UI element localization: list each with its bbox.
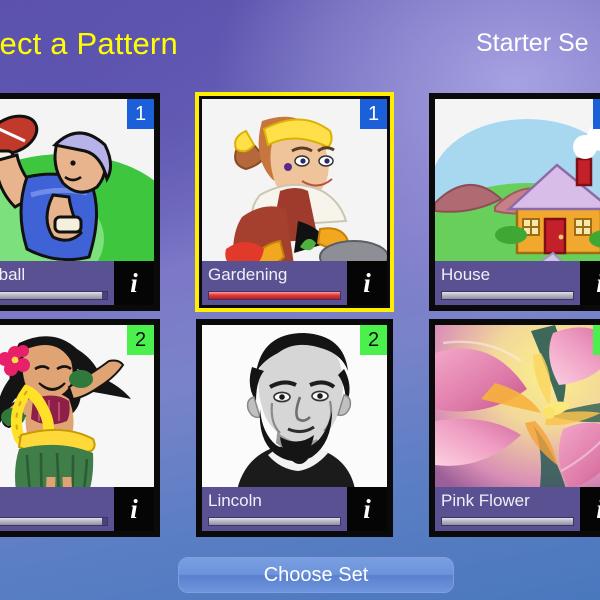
pattern-grid: 1 ootball i: [0, 93, 600, 545]
set-name-label: Starter Se: [476, 29, 589, 58]
card-namebar: Lincoln i: [202, 487, 387, 531]
difficulty-badge: 2: [360, 325, 387, 355]
card-namebar: Gardening i: [202, 261, 387, 305]
pattern-thumbnail-pink-flower[interactable]: [435, 325, 600, 495]
card-namebar: House i: [435, 261, 600, 305]
info-button[interactable]: i: [347, 487, 387, 531]
difficulty-badge: 2: [127, 325, 154, 355]
progress-fill: [0, 292, 102, 299]
pattern-card-pink-flower[interactable]: Pink Flower i: [429, 319, 600, 537]
progress-fill: [209, 292, 340, 299]
header: elect a Pattern Starter Se: [0, 0, 600, 88]
info-button[interactable]: i: [114, 261, 154, 305]
difficulty-badge: [593, 325, 600, 355]
progress-bar: [441, 517, 574, 526]
progress-fill: [442, 518, 573, 525]
progress-fill: [442, 292, 573, 299]
pattern-name: Gardening: [208, 264, 347, 286]
info-button[interactable]: i: [580, 487, 600, 531]
card-namebar-text: ula: [0, 487, 114, 531]
difficulty-badge: 1: [360, 99, 387, 129]
pattern-card-hula[interactable]: 2 ula i: [0, 319, 160, 537]
difficulty-badge: [593, 99, 600, 129]
progress-bar: [0, 517, 108, 526]
card-namebar-text: Pink Flower: [435, 487, 580, 531]
progress-bar: [208, 517, 341, 526]
pattern-thumbnail-house[interactable]: [435, 99, 600, 269]
progress-fill: [0, 518, 102, 525]
card-namebar-text: Lincoln: [202, 487, 347, 531]
info-button[interactable]: i: [347, 261, 387, 305]
pattern-card-lincoln[interactable]: 2 Lincoln i: [196, 319, 393, 537]
info-button[interactable]: i: [114, 487, 154, 531]
card-namebar: ula i: [0, 487, 154, 531]
progress-fill: [209, 518, 340, 525]
pattern-card-house[interactable]: House i: [429, 93, 600, 311]
progress-bar: [441, 291, 574, 300]
difficulty-badge: 1: [127, 99, 154, 129]
card-namebar-text: ootball: [0, 261, 114, 305]
progress-bar: [208, 291, 341, 300]
pattern-name: House: [441, 264, 580, 286]
card-namebar-text: Gardening: [202, 261, 347, 305]
pattern-card-football[interactable]: 1 ootball i: [0, 93, 160, 311]
card-namebar-text: House: [435, 261, 580, 305]
pattern-name: Pink Flower: [441, 490, 580, 512]
page-title: elect a Pattern: [0, 26, 178, 62]
card-namebar: Pink Flower i: [435, 487, 600, 531]
pattern-card-gardening[interactable]: 1 Gardening i: [196, 93, 393, 311]
progress-bar: [0, 291, 108, 300]
pattern-name: ootball: [0, 264, 114, 286]
info-button[interactable]: i: [580, 261, 600, 305]
pattern-row: 2 ula i: [0, 319, 600, 537]
card-namebar: ootball i: [0, 261, 154, 305]
choose-set-button[interactable]: Choose Set: [178, 557, 454, 593]
pattern-name: ula: [0, 490, 114, 512]
pattern-name: Lincoln: [208, 490, 347, 512]
pattern-row: 1 ootball i: [0, 93, 600, 311]
